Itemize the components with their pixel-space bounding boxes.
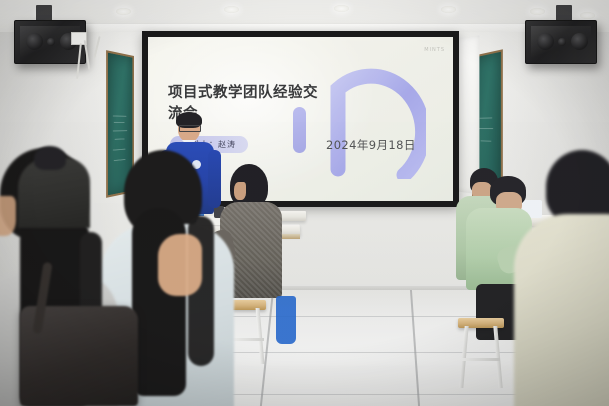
wall-speaker-right xyxy=(525,20,597,64)
stool-rung xyxy=(462,358,500,361)
downlight xyxy=(224,6,239,13)
neck-shoulder xyxy=(158,234,202,296)
torso xyxy=(514,214,609,406)
hair xyxy=(34,146,66,170)
speaker-bracket-left xyxy=(36,5,52,21)
slide-date: 2024年9月18日 xyxy=(326,137,416,153)
downlight xyxy=(441,6,456,13)
blue-bag xyxy=(276,296,296,344)
foreground-man-right xyxy=(520,150,609,406)
downlight xyxy=(334,5,349,12)
slide-corner-logo: MINTS xyxy=(424,47,445,53)
downlight xyxy=(580,12,595,19)
speaker-bracket-right xyxy=(556,5,572,21)
face xyxy=(0,196,16,236)
downlight xyxy=(116,8,131,15)
presenter-glasses xyxy=(179,125,201,132)
hair xyxy=(546,150,609,224)
classroom-photo: MINTS 项目式教学团队经验交流会 主讲人：赵涛 2024年9月18日 xyxy=(0,0,609,406)
downlight xyxy=(530,8,545,15)
